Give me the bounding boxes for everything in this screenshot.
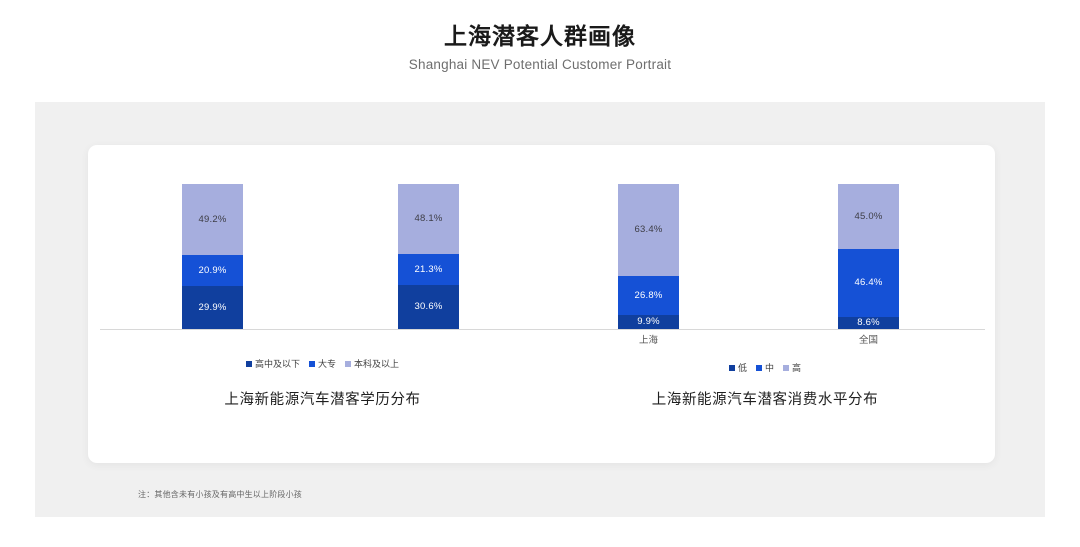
legend-item-low[interactable]: 低: [729, 361, 747, 374]
content-panel: 49.2% 20.9% 29.9% 48.1% 21.3% 30.6% 高中及以…: [35, 102, 1045, 517]
legend-label: 大专: [318, 357, 336, 370]
legend-item-mid[interactable]: 大专: [309, 357, 336, 370]
chart-education-distribution: 49.2% 20.9% 29.9% 48.1% 21.3% 30.6% 高中及以…: [100, 145, 545, 463]
bar-column[interactable]: 49.2% 20.9% 29.9%: [182, 184, 243, 329]
legend-label: 中: [765, 361, 774, 374]
bar-segment-high[interactable]: 45.0%: [838, 184, 899, 249]
bar-segment-mid[interactable]: 46.4%: [838, 249, 899, 316]
chart-legend: 高中及以下 大专 本科及以上: [100, 357, 545, 370]
legend-swatch-icon: [783, 365, 789, 371]
legend-item-low[interactable]: 高中及以下: [246, 357, 300, 370]
bar-segment-mid[interactable]: 26.8%: [618, 276, 679, 315]
bar-segment-high[interactable]: 63.4%: [618, 184, 679, 276]
x-axis-label: 全国: [838, 332, 899, 346]
plot-area: 63.4% 26.8% 9.9% 45.0% 46.4% 8.6%: [545, 185, 985, 330]
footnote: 注：其他含未有小孩及有高中生以上阶段小孩: [138, 489, 302, 500]
charts-container: 49.2% 20.9% 29.9% 48.1% 21.3% 30.6% 高中及以…: [88, 145, 995, 463]
legend-label: 高: [792, 361, 801, 374]
legend-swatch-icon: [309, 361, 315, 367]
legend-swatch-icon: [729, 365, 735, 371]
legend-label: 本科及以上: [354, 357, 399, 370]
bar-segment-low[interactable]: 9.9%: [618, 315, 679, 329]
x-axis-line: [545, 329, 985, 330]
bar-segment-low[interactable]: 8.6%: [838, 317, 899, 329]
chart-caption: 上海新能源汽车潜客学历分布: [100, 388, 545, 409]
legend-swatch-icon: [756, 365, 762, 371]
legend-item-mid[interactable]: 中: [756, 361, 774, 374]
page-subtitle: Shanghai NEV Potential Customer Portrait: [0, 57, 1080, 72]
legend-swatch-icon: [246, 361, 252, 367]
bar-segment-high[interactable]: 48.1%: [398, 184, 459, 254]
bar-segment-mid[interactable]: 20.9%: [182, 255, 243, 285]
x-axis-label: 上海: [618, 332, 679, 346]
chart-caption: 上海新能源汽车潜客消费水平分布: [545, 388, 985, 409]
bar-segment-low[interactable]: 30.6%: [398, 285, 459, 329]
bar-column[interactable]: 63.4% 26.8% 9.9%: [618, 184, 679, 329]
legend-item-high[interactable]: 高: [783, 361, 801, 374]
legend-item-high[interactable]: 本科及以上: [345, 357, 399, 370]
legend-label: 高中及以下: [255, 357, 300, 370]
page-header: 上海潜客人群画像 Shanghai NEV Potential Customer…: [0, 0, 1080, 72]
bar-segment-mid[interactable]: 21.3%: [398, 254, 459, 285]
legend-label: 低: [738, 361, 747, 374]
chart-card: 49.2% 20.9% 29.9% 48.1% 21.3% 30.6% 高中及以…: [88, 145, 995, 463]
bar-column[interactable]: 48.1% 21.3% 30.6%: [398, 184, 459, 329]
bar-column[interactable]: 45.0% 46.4% 8.6%: [838, 184, 899, 329]
legend-swatch-icon: [345, 361, 351, 367]
x-axis-line: [100, 329, 545, 330]
bar-segment-low[interactable]: 29.9%: [182, 286, 243, 329]
chart-legend: 低 中 高: [545, 361, 985, 374]
page-title: 上海潜客人群画像: [0, 22, 1080, 51]
plot-area: 49.2% 20.9% 29.9% 48.1% 21.3% 30.6%: [100, 185, 545, 330]
x-axis-labels: 上海 全国: [545, 332, 985, 348]
chart-consumption-level-distribution: 63.4% 26.8% 9.9% 45.0% 46.4% 8.6% 上海 全国: [545, 145, 985, 463]
bar-segment-high[interactable]: 49.2%: [182, 184, 243, 255]
